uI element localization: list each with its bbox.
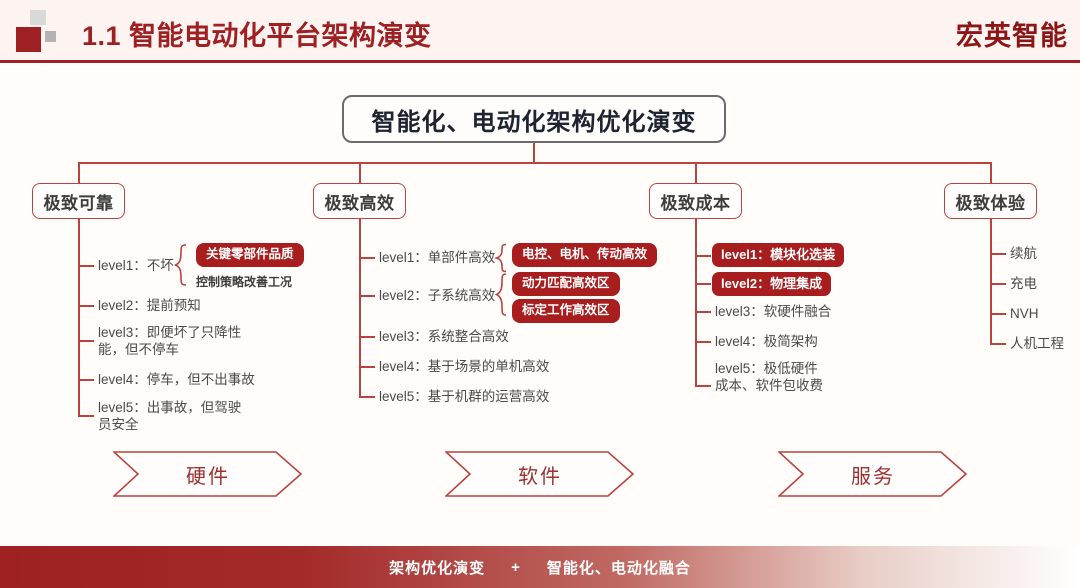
- brand-logo-text: 宏英智能: [956, 14, 1068, 53]
- branch-box-4[interactable]: 极致体验: [944, 183, 1037, 219]
- branch-spine-4: [990, 219, 992, 344]
- chevron-software[interactable]: 软件: [445, 451, 635, 497]
- branch2-annotation-badge-2: 动力匹配高效区: [512, 272, 620, 296]
- branch1-tick-2: [78, 305, 94, 307]
- chevron-service-label: 服务: [778, 451, 968, 497]
- branch1-tick-4: [78, 379, 94, 381]
- branch3-tick-1: [695, 255, 711, 257]
- branch4-item-2: 充电: [1010, 275, 1037, 292]
- branch-spine-1: [78, 219, 80, 415]
- branch2-level-3: level3：系统整合高效: [379, 328, 509, 345]
- branch4-tick-3: [990, 313, 1006, 315]
- branch4-item-3: NVH: [1010, 305, 1039, 322]
- branch3-tick-2: [695, 283, 711, 285]
- branch3-level-5: level5：极低硬件 成本、软件包收费: [715, 360, 823, 394]
- branch1-level-3: level3：即便坏了只降性 能，但不停车: [98, 324, 241, 358]
- branch2-tick-5: [359, 396, 375, 398]
- branch4-item-4: 人机工程: [1010, 335, 1064, 352]
- chevron-hardware[interactable]: 硬件: [113, 451, 303, 497]
- branch2-tick-2: [359, 295, 375, 297]
- chevron-software-label: 软件: [445, 451, 635, 497]
- chevron-hardware-label: 硬件: [113, 451, 303, 497]
- branch-spine-3: [695, 219, 697, 385]
- branch3-tick-4: [695, 341, 711, 343]
- header-divider: [0, 60, 1080, 63]
- connector-drop-2: [359, 162, 361, 184]
- connector-horizontal-bus: [78, 162, 991, 164]
- branch4-tick-2: [990, 283, 1006, 285]
- branch1-brace-icon: [172, 243, 188, 287]
- branch3-level-4: level4：极简架构: [715, 333, 818, 350]
- slide-footer: 架构优化演变 + 智能化、电动化融合: [0, 546, 1080, 588]
- branch3-tick-5: [695, 385, 711, 387]
- branch1-level-4: level4：停车，但不出事故: [98, 371, 255, 388]
- branch2-level-2: level2：子系统高效: [379, 287, 495, 304]
- branch2-tick-4: [359, 366, 375, 368]
- footer-content: 架构优化演变 + 智能化、电动化融合: [0, 546, 1080, 588]
- connector-drop-4: [990, 162, 992, 184]
- branch2-tick-3: [359, 336, 375, 338]
- footer-plus-symbol: +: [511, 559, 521, 576]
- connector-drop-3: [695, 162, 697, 184]
- slide-header: 1.1 智能电动化平台架构演变 宏英智能: [0, 0, 1080, 63]
- branch1-level-1: level1：不坏: [98, 257, 174, 274]
- logo-square-gray-large: [30, 10, 46, 25]
- branch1-tick-1: [78, 265, 94, 267]
- branch2-level-5: level5：基于机群的运营高效: [379, 388, 549, 405]
- branch2-level-1: level1：单部件高效: [379, 249, 495, 266]
- branch4-item-1: 续航: [1010, 245, 1037, 262]
- branch3-level-2: level2：物理集成: [712, 272, 831, 296]
- branch2-tick-1: [359, 257, 375, 259]
- branch4-tick-4: [990, 343, 1006, 345]
- page-title: 1.1 智能电动化平台架构演变: [82, 14, 432, 53]
- branch-spine-2: [359, 219, 361, 396]
- logo-square-gray-small: [45, 31, 56, 42]
- footer-left-text: 架构优化演变: [389, 557, 485, 578]
- branch3-level-1: level1：模块化选装: [712, 243, 844, 267]
- branch-box-1[interactable]: 极致可靠: [32, 183, 125, 219]
- branch2-brace-icon-2: [494, 272, 508, 318]
- connector-drop-1: [78, 162, 80, 184]
- branch4-tick-1: [990, 253, 1006, 255]
- branch2-level-4: level4：基于场景的单机高效: [379, 358, 549, 375]
- branch1-annotation-badge: 关键零部件品质: [196, 243, 304, 267]
- branch2-annotation-badge-3: 标定工作高效区: [512, 299, 620, 323]
- connector-root-stem: [533, 143, 535, 163]
- slide-root: 1.1 智能电动化平台架构演变 宏英智能 智能化、电动化架构优化演变 极致可靠 …: [0, 0, 1080, 588]
- logo-square-red: [16, 27, 41, 52]
- chevron-service[interactable]: 服务: [778, 451, 968, 497]
- branch1-level-5: level5：出事故，但驾驶 员安全: [98, 399, 241, 433]
- branch-box-2[interactable]: 极致高效: [313, 183, 406, 219]
- footer-right-text: 智能化、电动化融合: [547, 557, 691, 578]
- branch1-annotation-note: 控制策略改善工况: [196, 273, 292, 290]
- branch3-tick-3: [695, 311, 711, 313]
- branch1-level-2: level2：提前预知: [98, 297, 201, 314]
- branch2-annotation-badge-1: 电控、电机、传动高效: [512, 243, 657, 267]
- branch3-level-3: level3：软硬件融合: [715, 303, 831, 320]
- diagram-root-title: 智能化、电动化架构优化演变: [342, 95, 726, 143]
- branch2-brace-icon-1: [494, 243, 508, 273]
- branch1-tick-5: [78, 415, 94, 417]
- branch1-tick-3: [78, 340, 94, 342]
- three-squares-logo-icon: [14, 10, 60, 54]
- branch-box-3[interactable]: 极致成本: [649, 183, 742, 219]
